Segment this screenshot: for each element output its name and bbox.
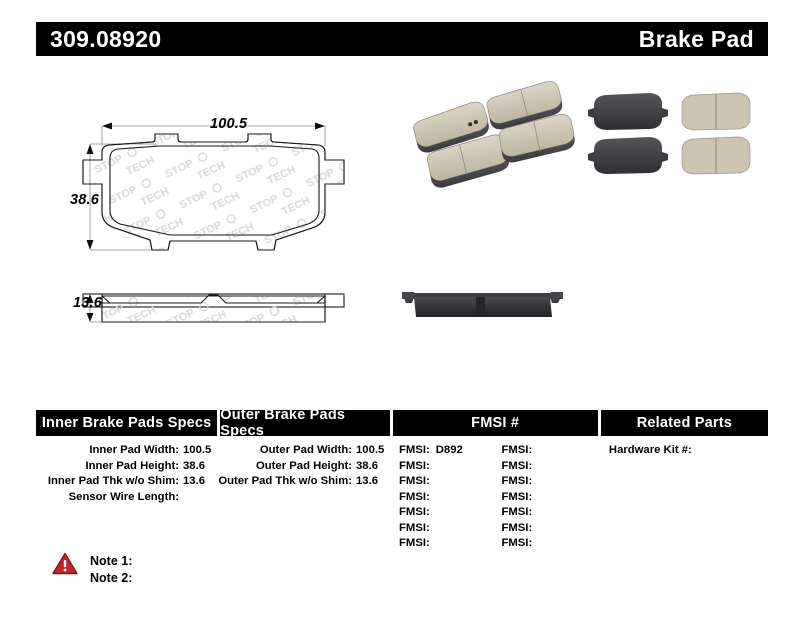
fmsi-label: FMSI: xyxy=(399,521,430,537)
photo-pads-grid xyxy=(588,88,758,180)
spec-value: 13.6 xyxy=(179,474,217,490)
fmsi-label: FMSI: xyxy=(501,459,532,475)
fmsi-label: FMSI: xyxy=(501,521,532,537)
fmsi-label: FMSI: xyxy=(399,474,430,490)
column-header-outer: Outer Brake Pads Specs xyxy=(220,410,389,436)
fmsi-value xyxy=(532,443,538,459)
fmsi-label: FMSI: xyxy=(399,505,430,521)
spec-value: 38.6 xyxy=(352,459,390,475)
related-parts-column: Hardware Kit #: xyxy=(601,443,768,552)
fmsi-row: FMSI: xyxy=(495,536,597,552)
outer-specs-column: Outer Pad Width: 100.5 Outer Pad Height:… xyxy=(220,443,390,552)
fmsi-value xyxy=(430,505,436,521)
fmsi-value xyxy=(532,536,538,552)
spec-row: Inner Pad Thk w/o Shim: 13.6 xyxy=(36,474,217,490)
fmsi-subcolumn-right: FMSI: FMSI: FMSI: FMSI: xyxy=(495,443,597,552)
fmsi-value xyxy=(532,521,538,537)
spec-row: Inner Pad Height: 38.6 xyxy=(36,459,217,475)
column-header-fmsi: FMSI # xyxy=(393,410,598,436)
product-photos xyxy=(0,0,800,400)
spec-row: Outer Pad Thk w/o Shim: 13.6 xyxy=(220,474,390,490)
table-body: Inner Pad Width: 100.5 Inner Pad Height:… xyxy=(36,436,768,552)
fmsi-value xyxy=(430,474,436,490)
fmsi-subcolumn-left: FMSI: D892 FMSI: FMSI: FMSI: xyxy=(393,443,495,552)
fmsi-row: FMSI: xyxy=(393,490,495,506)
fmsi-value xyxy=(430,459,436,475)
fmsi-value xyxy=(532,505,538,521)
related-part-label: Hardware Kit #: xyxy=(609,444,692,456)
fmsi-row: FMSI: xyxy=(393,521,495,537)
fmsi-value: D892 xyxy=(430,443,463,459)
fmsi-value xyxy=(430,536,436,552)
note-2: Note 2: xyxy=(90,570,132,587)
photo-pad-side xyxy=(400,283,565,328)
fmsi-row: FMSI: xyxy=(495,521,597,537)
spec-label: Outer Pad Thk w/o Shim: xyxy=(218,474,352,490)
fmsi-row: FMSI: xyxy=(495,459,597,475)
fmsi-value xyxy=(430,521,436,537)
fmsi-row: FMSI: xyxy=(393,505,495,521)
fmsi-value xyxy=(430,490,436,506)
related-part-row: Hardware Kit #: xyxy=(601,443,768,459)
fmsi-row: FMSI: xyxy=(495,490,597,506)
fmsi-label: FMSI: xyxy=(501,474,532,490)
spec-label: Outer Pad Height: xyxy=(256,459,352,475)
fmsi-label: FMSI: xyxy=(501,490,532,506)
fmsi-row: FMSI: xyxy=(393,536,495,552)
spec-value: 100.5 xyxy=(179,443,217,459)
spec-row: Sensor Wire Length: xyxy=(36,490,217,506)
spec-value xyxy=(179,490,217,506)
fmsi-column: FMSI: D892 FMSI: FMSI: FMSI: xyxy=(393,443,598,552)
spec-label: Inner Pad Width: xyxy=(89,443,179,459)
fmsi-row: FMSI: xyxy=(495,505,597,521)
fmsi-label: FMSI: xyxy=(399,459,430,475)
fmsi-row: FMSI: xyxy=(495,474,597,490)
spec-value: 38.6 xyxy=(179,459,217,475)
fmsi-label: FMSI: xyxy=(399,490,430,506)
inner-specs-column: Inner Pad Width: 100.5 Inner Pad Height:… xyxy=(36,443,217,552)
column-header-related: Related Parts xyxy=(601,410,768,436)
spec-value: 13.6 xyxy=(352,474,390,490)
spec-table: Inner Brake Pads Specs Outer Brake Pads … xyxy=(36,410,768,552)
spec-row: Outer Pad Height: 38.6 xyxy=(220,459,390,475)
spec-label: Inner Pad Height: xyxy=(85,459,179,475)
warning-triangle-icon xyxy=(52,552,78,575)
spec-label: Sensor Wire Length: xyxy=(69,490,179,506)
fmsi-label: FMSI: xyxy=(501,443,532,459)
fmsi-row: FMSI: xyxy=(495,443,597,459)
fmsi-row: FMSI: xyxy=(393,459,495,475)
fmsi-label: FMSI: xyxy=(501,505,532,521)
fmsi-label: FMSI: xyxy=(501,536,532,552)
fmsi-value xyxy=(532,474,538,490)
spec-label: Outer Pad Width: xyxy=(260,443,352,459)
column-header-inner: Inner Brake Pads Specs xyxy=(36,410,217,436)
fmsi-value xyxy=(532,490,538,506)
spec-value: 100.5 xyxy=(352,443,390,459)
spec-label: Inner Pad Thk w/o Shim: xyxy=(48,474,179,490)
table-header-row: Inner Brake Pads Specs Outer Brake Pads … xyxy=(36,410,768,436)
fmsi-row: FMSI: xyxy=(393,474,495,490)
fmsi-value xyxy=(532,459,538,475)
fmsi-row: FMSI: D892 xyxy=(393,443,495,459)
note-1: Note 1: xyxy=(90,553,132,570)
photo-pads-angled xyxy=(405,82,580,187)
spec-row: Inner Pad Width: 100.5 xyxy=(36,443,217,459)
fmsi-label: FMSI: xyxy=(399,536,430,552)
notes-section: Note 1: Note 2: xyxy=(52,552,132,587)
fmsi-label: FMSI: xyxy=(399,443,430,459)
spec-row: Outer Pad Width: 100.5 xyxy=(220,443,390,459)
